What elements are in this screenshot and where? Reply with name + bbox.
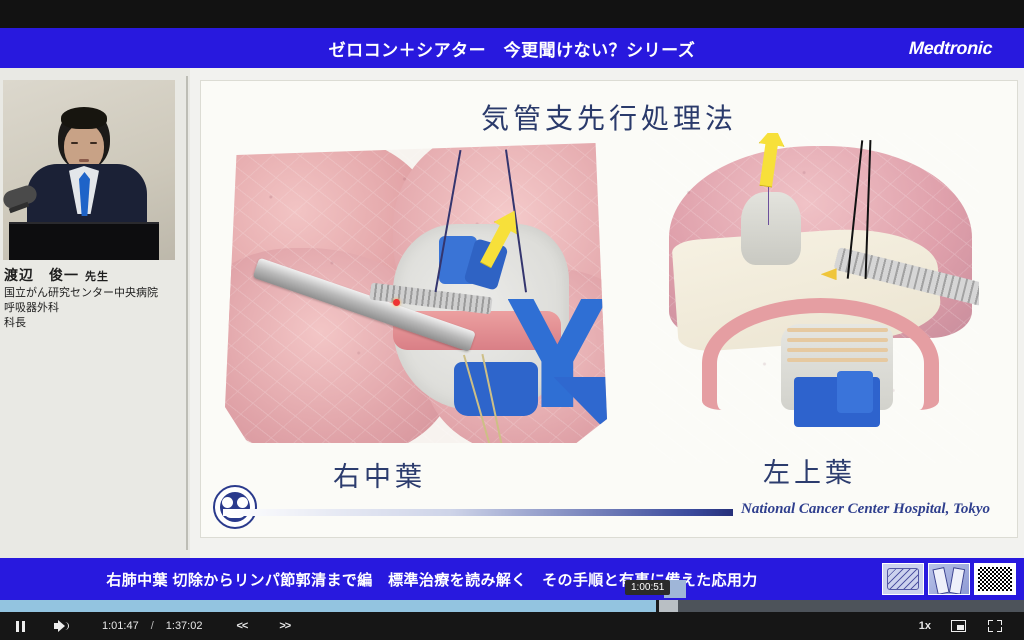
banner-title: 右肺中葉 切除からリンパ節郭清まで編 標準治療を読み解く その手順と有事に備えた… <box>0 558 1024 600</box>
slide-title: 気管支先行処理法 <box>201 97 1017 137</box>
pause-icon <box>16 621 25 632</box>
bronchial-cartilage-1 <box>787 328 888 332</box>
speaker-name: 渡辺 俊一 <box>4 267 79 283</box>
header-title: ゼロコン＋シアター 今更聞けない？シリーズ <box>0 28 1024 68</box>
forward-button[interactable]: >> <box>279 612 290 640</box>
playback-speed-button[interactable]: 1x <box>919 612 931 640</box>
device-photo-thumbnail <box>928 563 970 595</box>
progress-buffered <box>659 600 677 612</box>
medtronic-logo: Medtronic <box>908 28 993 68</box>
speaker-info: 渡辺 俊一先生 国立がん研究センター中央病院 呼吸器外科 科長 <box>4 266 186 331</box>
speaker-panel: 渡辺 俊一先生 国立がん研究センター中央病院 呼吸器外科 科長 <box>0 68 190 558</box>
bronchial-cartilage-2 <box>787 338 888 342</box>
caption-right-middle-lobe: 右中葉 <box>333 455 426 494</box>
scrub-time-tooltip: 1:00:51 <box>625 580 670 595</box>
picture-in-picture-icon <box>951 620 966 632</box>
bronchial-cartilage-4 <box>787 358 888 362</box>
time-separator: / <box>151 612 154 640</box>
speaker-webcam-video[interactable] <box>3 80 175 260</box>
panel-divider <box>186 76 188 550</box>
bottom-banner: 右肺中葉 切除からリンパ節郭清まで編 標準治療を読み解く その手順と有事に備えた… <box>0 558 1024 600</box>
speaker-honorific: 先生 <box>85 271 109 283</box>
national-cancer-center-logo-icon <box>213 485 257 529</box>
banner-logo-group <box>882 563 1016 595</box>
speaker-affiliation-1: 国立がん研究センター中央病院 <box>4 286 186 301</box>
caption-left-upper-lobe: 左上葉 <box>763 451 856 490</box>
speaker-name-row: 渡辺 俊一先生 <box>4 266 186 286</box>
duration: 1:37:02 <box>166 612 203 640</box>
volume-button[interactable] <box>40 612 82 640</box>
ncc-logo-mark <box>220 492 250 522</box>
left-vein-branch <box>837 371 873 414</box>
speaker-eye-left <box>71 142 78 144</box>
desk-monitor <box>9 222 159 260</box>
picture-in-picture-button[interactable] <box>951 612 966 640</box>
progress-handle[interactable] <box>656 600 659 612</box>
header-bar: ゼロコン＋シアター 今更聞けない？シリーズ Medtronic <box>0 28 1024 68</box>
player-controls: 1:01:47 / 1:37:02 << >> 1x <box>0 612 1024 640</box>
progress-bar[interactable] <box>0 600 1024 612</box>
zero-complications-logo-icon <box>882 563 924 595</box>
current-time: 1:01:47 <box>102 612 139 640</box>
illustration-left-upper-lobe <box>649 133 979 463</box>
progress-played <box>0 600 659 612</box>
pause-button[interactable] <box>0 612 40 640</box>
slide-content: 気管支先行処理法 <box>200 80 1018 538</box>
rewind-button[interactable]: << <box>236 612 247 640</box>
volume-icon <box>54 620 68 632</box>
top-letterbox <box>0 0 1024 28</box>
slide-credit: National Cancer Center Hospital, Tokyo <box>741 501 990 518</box>
illustration-right-middle-lobe <box>225 143 607 443</box>
speaker-affiliation-3: 科長 <box>4 316 186 331</box>
speaker-hair-front <box>61 107 107 129</box>
bronchial-stump <box>741 192 800 265</box>
speaker-affiliation-2: 呼吸器外科 <box>4 301 186 316</box>
fullscreen-button[interactable] <box>988 612 1002 640</box>
fullscreen-icon <box>988 620 1002 632</box>
video-player-screen: ゼロコン＋シアター 今更聞けない？シリーズ Medtronic <box>0 0 1024 640</box>
qr-code-icon[interactable] <box>974 563 1016 595</box>
speaker-eye-right <box>90 142 97 144</box>
slide-footer-rule <box>223 509 733 516</box>
bronchial-cartilage-3 <box>787 348 888 352</box>
speaker-mouth <box>79 159 89 162</box>
